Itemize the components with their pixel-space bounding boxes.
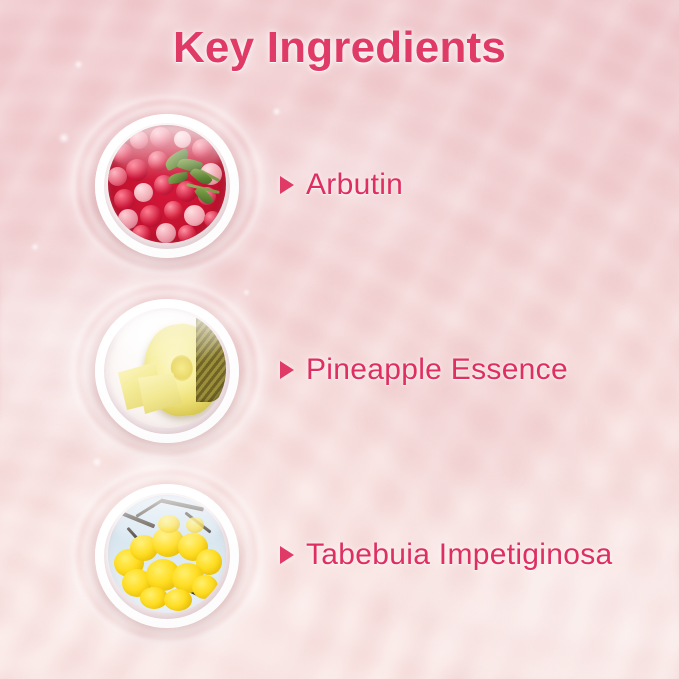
ingredient-label-tabebuia: Tabebuia Impetiginosa xyxy=(280,538,613,572)
ingredient-label-pineapple: Pineapple Essence xyxy=(280,353,568,387)
bowl-vessel xyxy=(95,299,239,443)
ingredient-name: Arbutin xyxy=(306,168,403,202)
bowl-rim xyxy=(95,299,239,443)
bowl-of-red-berries xyxy=(72,95,262,275)
bowl-of-pineapple xyxy=(72,280,262,460)
ingredient-name: Tabebuia Impetiginosa xyxy=(306,538,613,572)
ingredient-row-tabebuia: Tabebuia Impetiginosa xyxy=(0,465,679,645)
ingredient-name: Pineapple Essence xyxy=(306,353,568,387)
bowl-vessel xyxy=(95,484,239,628)
bowl-rim xyxy=(95,484,239,628)
bowl-vessel xyxy=(95,114,239,258)
triangle-right-icon xyxy=(280,176,294,194)
ingredient-row-pineapple: Pineapple Essence xyxy=(0,280,679,460)
page-title: Key Ingredients xyxy=(0,23,679,73)
ingredient-label-arbutin: Arbutin xyxy=(280,168,403,202)
bowl-rim xyxy=(95,114,239,258)
ingredients-infographic: Key Ingredients xyxy=(0,0,679,679)
triangle-right-icon xyxy=(280,361,294,379)
bowl-of-yellow-blossoms xyxy=(72,465,262,645)
triangle-right-icon xyxy=(280,546,294,564)
ingredient-row-arbutin: Arbutin xyxy=(0,95,679,275)
